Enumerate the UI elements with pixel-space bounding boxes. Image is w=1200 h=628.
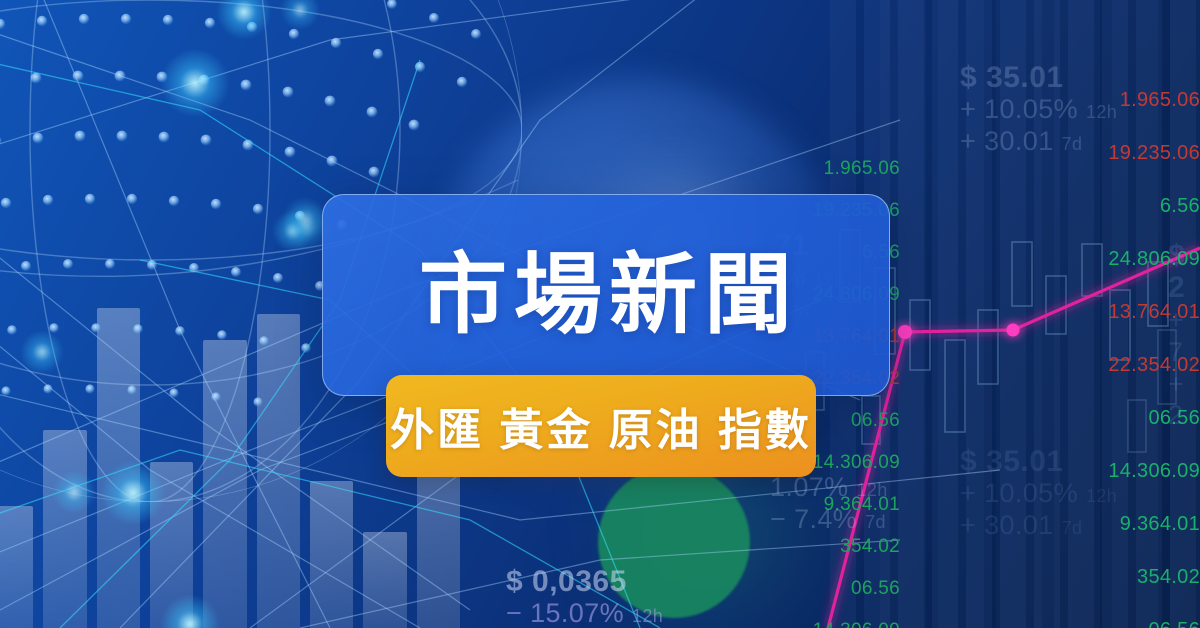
price-quote-block: $ 35.01 + 10.05% 12h + 30.01 7d	[960, 62, 1117, 158]
ticker-value: 13.764.01	[980, 286, 1200, 339]
ticker-value: 06.56	[980, 604, 1200, 628]
ticker-value: 24.806.09	[980, 233, 1200, 286]
quote-change-7d: + 30.01 7d	[960, 510, 1117, 542]
ticker-value: 354.02	[980, 551, 1200, 604]
glow-node	[100, 460, 166, 526]
ticker-value: 6.56	[980, 180, 1200, 233]
market-news-banner: 1.965.06 19.235.06 6.56 24.806.09 13.764…	[0, 0, 1200, 628]
glow-node	[52, 470, 96, 514]
quote-price: $ 0,0365	[506, 566, 663, 598]
page-title: 市場新聞	[413, 251, 799, 339]
ticker-value: 06.56	[980, 392, 1200, 445]
quote-change-12h: − 15.07% 12h	[506, 598, 663, 628]
ticker-value: 06.56	[700, 568, 900, 610]
title-card: 市場新聞	[322, 194, 890, 396]
quote-change-7d: − 7.4% 7d	[770, 504, 888, 536]
price-quote-block: $ 35.01 + 10.05% 12h + 30.01 7d	[960, 446, 1117, 542]
glow-node	[20, 330, 64, 374]
quote-price: $ 2	[1168, 240, 1200, 305]
subtitle-badge[interactable]: 外匯 黃金 原油 指數	[386, 375, 816, 477]
quote-change-12h: + 10.05% 12h	[960, 94, 1117, 126]
subtitle-label: 外匯 黃金 原油 指數	[390, 394, 812, 458]
ticker-value: 14.306.09	[700, 610, 900, 628]
quote-price: $ 35.01	[960, 446, 1117, 478]
ticker-value: 1.965.06	[700, 148, 900, 190]
quote-change-7d: + 30.01 7d	[960, 126, 1117, 158]
ticker-value: 22.354.02	[980, 339, 1200, 392]
glow-node	[160, 48, 230, 118]
quote-change-12h: + 10.05% 12h	[960, 478, 1117, 510]
price-quote-block: $ 2 + 7 + 2	[1168, 240, 1200, 432]
quote-change-7d: + 2	[1168, 369, 1200, 433]
price-quote-block-featured: $ 0,0365 − 15.07% 12h − 48.4% 7d	[506, 566, 663, 628]
quote-change-12h: + 7	[1168, 305, 1200, 369]
quote-change-12h: 1.07% 12h	[770, 472, 888, 504]
quote-price: $ 35.01	[960, 62, 1117, 94]
